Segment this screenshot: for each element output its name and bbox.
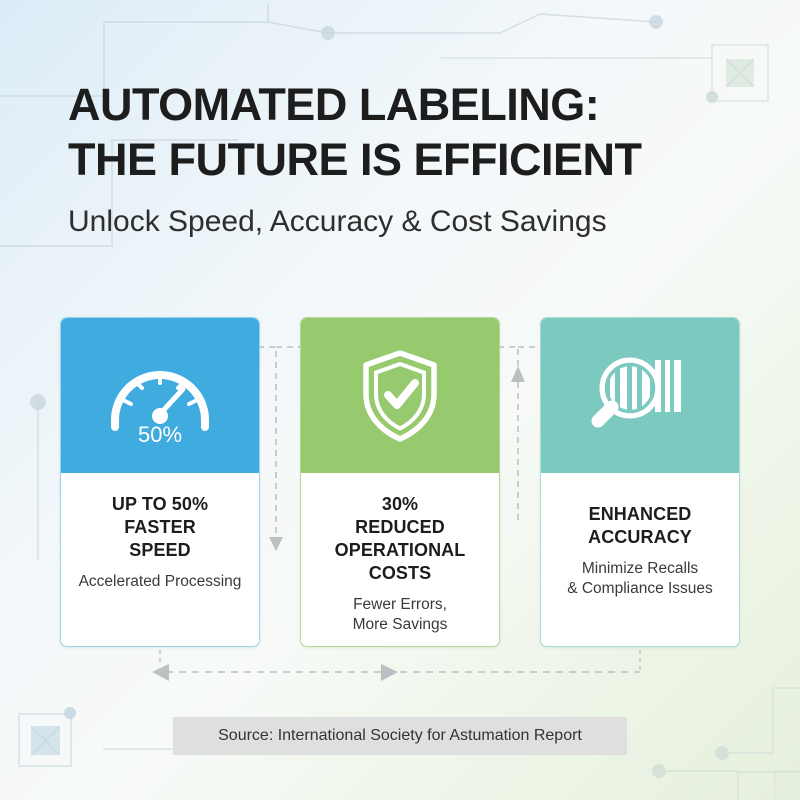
circuit-dots-bottom-right (652, 746, 729, 778)
card-speed-stat: UP TO 50% FASTER SPEED (73, 493, 247, 562)
magnifier-barcode-icon (586, 350, 694, 442)
card-speed-stat-line: FASTER (73, 516, 247, 539)
gauge-icon: 50% (101, 348, 219, 444)
square-decoration-bottom-left (19, 714, 71, 766)
card-row: 50% UP TO 50% FASTER SPEED Accelerated P… (60, 317, 740, 647)
card-speed-subtext-line: Accelerated Processing (73, 572, 247, 592)
circuit-dot-bottom-left (64, 707, 76, 719)
card-accuracy-stat: ENHANCED ACCURACY (553, 503, 727, 549)
source-bar: Source: International Society for Astuma… (173, 717, 627, 755)
card-accuracy[interactable]: ENHANCED ACCURACY Minimize Recalls & Com… (540, 317, 740, 647)
card-cost-icon-area (301, 318, 499, 473)
card-speed-subtext: Accelerated Processing (73, 572, 247, 592)
card-speed-stat-line: SPEED (73, 539, 247, 562)
card-cost-stat: 30% REDUCED OPERATIONAL COSTS (313, 493, 487, 585)
square-inner-bottom-left (31, 726, 60, 755)
gauge-value-label: 50% (138, 422, 182, 444)
card-cost-subtext: Fewer Errors, More Savings (313, 595, 487, 635)
connector-bottom-bidirectional (152, 650, 640, 681)
card-speed[interactable]: 50% UP TO 50% FASTER SPEED Accelerated P… (60, 317, 260, 647)
card-cost-stat-line: COSTS (313, 562, 487, 585)
card-accuracy-subtext-line: & Compliance Issues (553, 579, 727, 599)
card-cost[interactable]: 30% REDUCED OPERATIONAL COSTS Fewer Erro… (300, 317, 500, 647)
card-speed-body: UP TO 50% FASTER SPEED Accelerated Proce… (61, 473, 259, 646)
circuit-lines-bottom-right (659, 688, 800, 800)
header-block: AUTOMATED LABELING: THE FUTURE IS EFFICI… (68, 78, 748, 240)
card-cost-body: 30% REDUCED OPERATIONAL COSTS Fewer Erro… (301, 473, 499, 646)
card-cost-subtext-line: Fewer Errors, (313, 595, 487, 615)
card-accuracy-subtext-line: Minimize Recalls (553, 559, 727, 579)
card-accuracy-body: ENHANCED ACCURACY Minimize Recalls & Com… (541, 473, 739, 646)
card-accuracy-stat-line: ENHANCED (553, 503, 727, 526)
card-cost-stat-line: REDUCED (313, 516, 487, 539)
shield-check-icon (358, 348, 442, 444)
card-cost-stat-line: 30% (313, 493, 487, 516)
page-subtitle: Unlock Speed, Accuracy & Cost Savings (68, 204, 748, 240)
page-title-line-1: AUTOMATED LABELING: (68, 78, 748, 133)
card-cost-stat-line: OPERATIONAL (313, 539, 487, 562)
card-cost-subtext-line: More Savings (313, 615, 487, 635)
square-decoration-bottom-right-edge (775, 771, 800, 800)
card-speed-icon-area: 50% (61, 318, 259, 473)
card-speed-stat-line: UP TO 50% (73, 493, 247, 516)
square-cross-bottom-left (31, 726, 60, 755)
source-text: Source: International Society for Astuma… (218, 727, 582, 745)
page-title-line-2: THE FUTURE IS EFFICIENT (68, 133, 748, 188)
card-accuracy-icon-area (541, 318, 739, 473)
card-accuracy-subtext: Minimize Recalls & Compliance Issues (553, 559, 727, 599)
card-accuracy-stat-line: ACCURACY (553, 526, 727, 549)
